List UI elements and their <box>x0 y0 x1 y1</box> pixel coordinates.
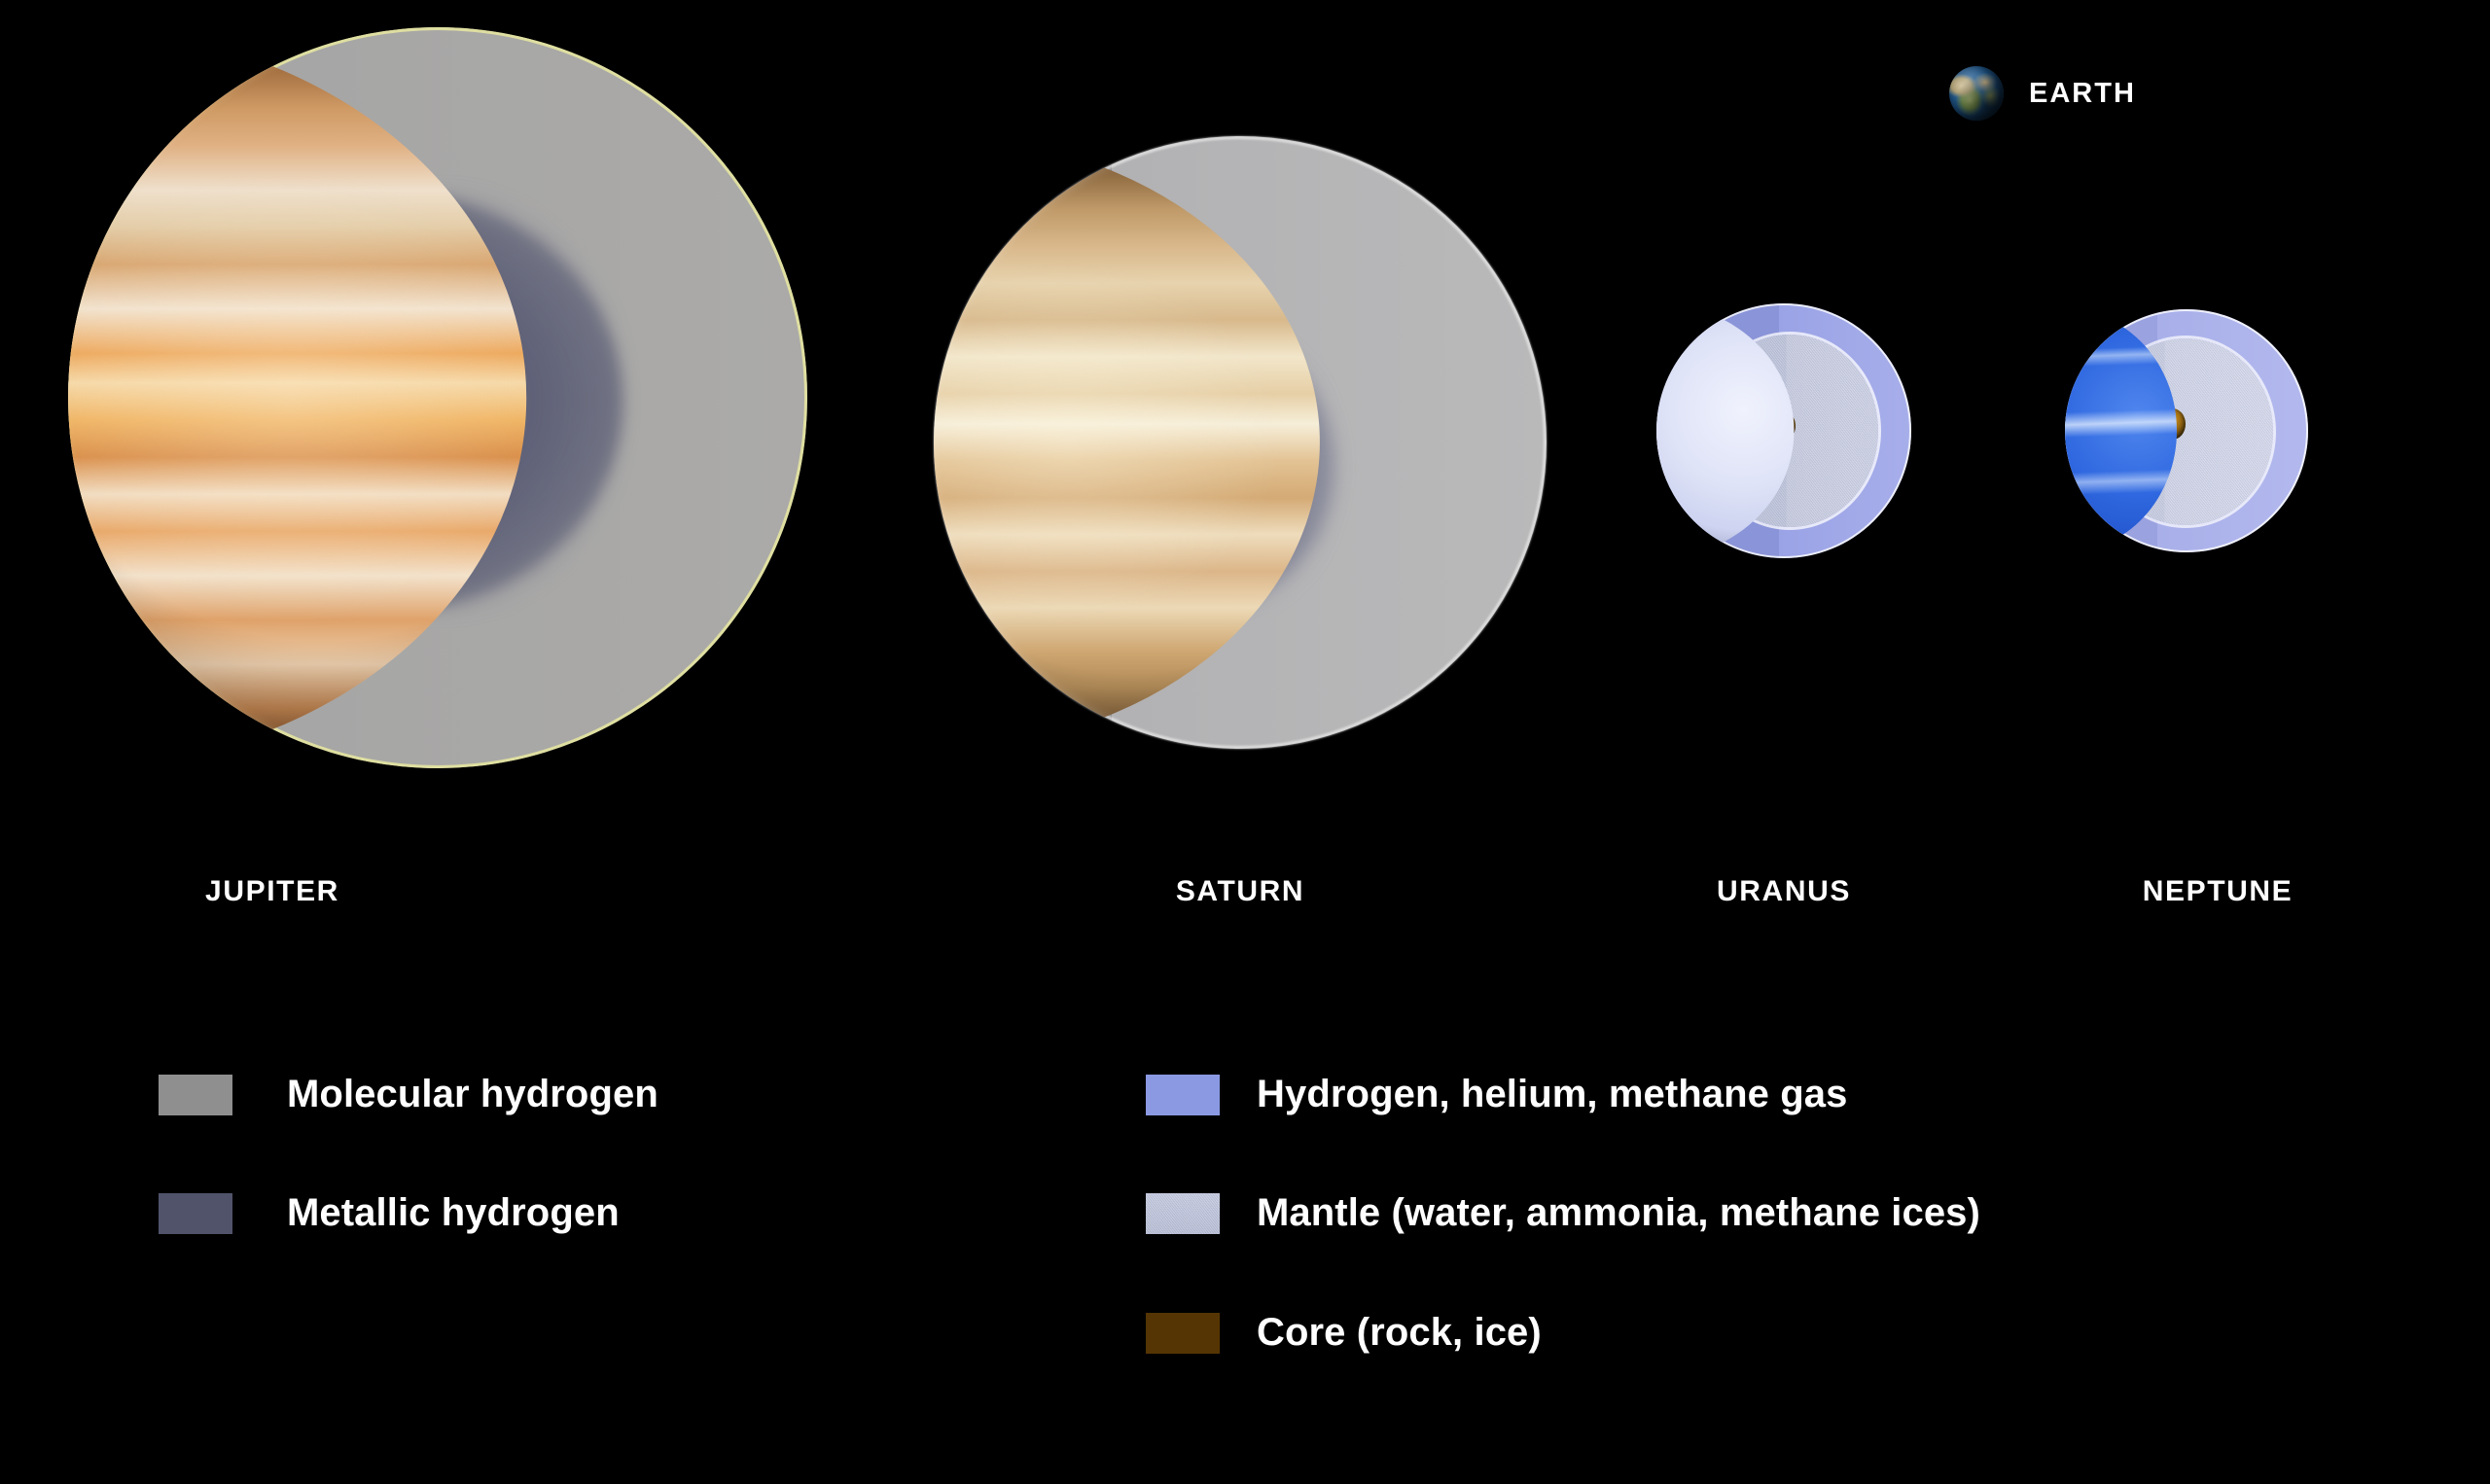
legend-item-hydrogen-helium-methane-gas: Hydrogen, helium, methane gas <box>1146 1073 1847 1116</box>
legend-label-hydrogen-helium-methane-gas: Hydrogen, helium, methane gas <box>1257 1073 1847 1116</box>
legend-swatch-core <box>1146 1313 1220 1354</box>
legend-item-molecular-hydrogen: Molecular hydrogen <box>159 1073 658 1116</box>
legend-label-core: Core (rock, ice) <box>1257 1311 1542 1355</box>
legend-item-core: Core (rock, ice) <box>1146 1311 1542 1355</box>
legend-label-metallic-hydrogen: Metallic hydrogen <box>287 1191 620 1235</box>
legend-swatch-metallic-hydrogen <box>159 1193 232 1234</box>
legend-item-metallic-hydrogen: Metallic hydrogen <box>159 1191 620 1235</box>
diagram-canvas: EARTH JUPITER <box>0 0 2490 1484</box>
legend-swatch-hydrogen-helium-methane-gas <box>1146 1075 1220 1115</box>
legend-swatch-molecular-hydrogen <box>159 1075 232 1115</box>
legend: Molecular hydrogen Metallic hydrogen Hyd… <box>0 0 2490 1484</box>
legend-item-mantle: Mantle (water, ammonia, methane ices) <box>1146 1191 1980 1235</box>
legend-label-mantle: Mantle (water, ammonia, methane ices) <box>1257 1191 1980 1235</box>
legend-label-molecular-hydrogen: Molecular hydrogen <box>287 1073 658 1116</box>
legend-swatch-mantle <box>1146 1193 1220 1234</box>
